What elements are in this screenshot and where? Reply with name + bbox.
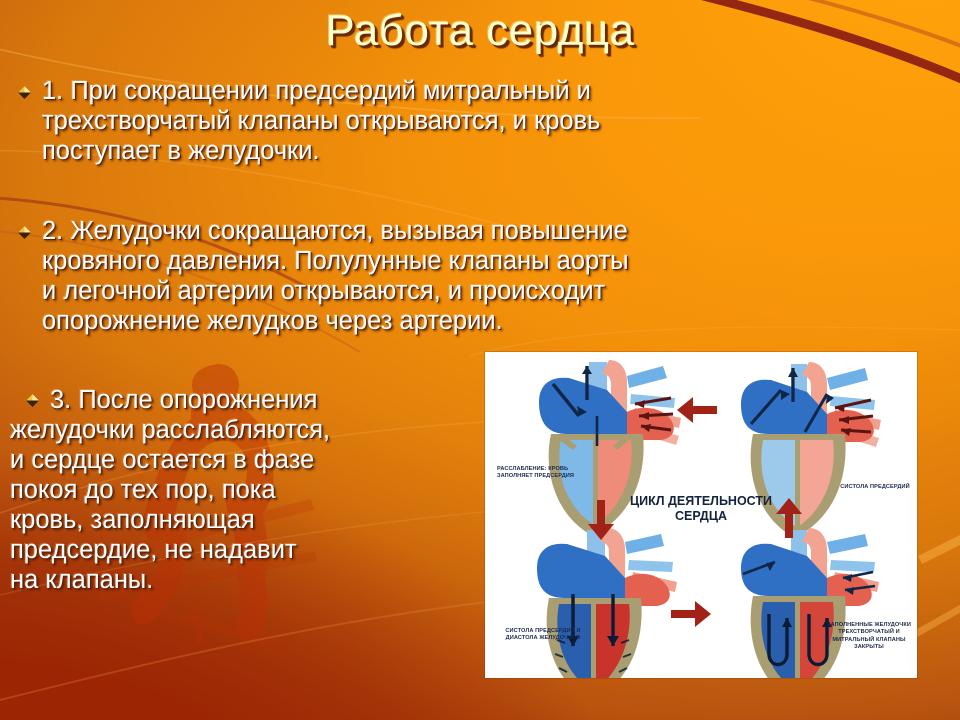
bullet-2-line-3: и легочной артерии открываются, и происх… [14, 276, 914, 306]
cycle-arrow-right-bottom [671, 601, 711, 627]
heart-stage-4-filled-ventricles [741, 528, 879, 678]
diagram-caption-line-2: СЕРДЦА [613, 509, 789, 524]
bullet-2-line-2: кровяного давления. Полулунные клапаны а… [14, 246, 914, 276]
diagram-caption: ЦИКЛ ДЕЯТЕЛЬНОСТИ СЕРДЦА [613, 494, 789, 524]
gold-diamond-bullet-icon [18, 226, 31, 239]
bullet-2-line-1: 2. Желудочки сокращаются, вызывая повыше… [14, 216, 914, 246]
gold-diamond-bullet-icon [26, 394, 39, 407]
cycle-arrow-left-top [677, 397, 717, 423]
bullet-3-line-2: желудочки расслабляются, [10, 415, 480, 445]
bullet-3-line-7: на клапаны. [10, 565, 480, 595]
diagram-label-systole-diastole: СИСТОЛА ПРЕДСЕРДИЙ И ДИАСТОЛА ЖЕЛУДОЧКОВ [501, 628, 585, 643]
bullet-1-line-1: 1. При сокращении предсердий митральный … [14, 76, 914, 106]
gold-diamond-bullet-icon [18, 86, 31, 99]
bullet-2-line-4: опорожнение желудков через артерии. [14, 306, 914, 336]
bullet-1-line-2: трехстворчатый клапаны открываются, и кр… [14, 106, 914, 136]
diagram-caption-line-1: ЦИКЛ ДЕЯТЕЛЬНОСТИ [613, 494, 789, 509]
diagram-label-filled-ventricles: ЗАПОЛНЕННЫЕ ЖЕЛУДОЧКИ ТРЕХСТВОРЧАТЫЙ И М… [823, 622, 915, 652]
diagram-label-relaxation: РАССЛАБЛЕНИЕ: КРОВЬ ЗАПОЛНЯЕТ ПРЕДСЕРДИЯ [497, 466, 577, 481]
slide-canvas: Работа сердца 1. При сокращении предсерд… [0, 0, 960, 720]
bullet-3-line-5: кровь, заполняющая [10, 505, 480, 535]
bullet-3-line-6: предсердие, не надавит [10, 535, 480, 565]
heart-stage-3-ventricular-filling [537, 528, 677, 678]
bullet-3-line-4: покоя до тех пор, пока [10, 475, 480, 505]
diagram-label-atrial-systole: СИСТОЛА ПРЕДСЕРДИЙ [837, 484, 913, 491]
heart-cycle-diagram-image: РАССЛАБЛЕНИЕ: КРОВЬ ЗАПОЛНЯЕТ ПРЕДСЕРДИЯ… [485, 352, 917, 678]
bullet-item-3: 3. После опорожнения желудочки расслабля… [10, 385, 480, 595]
bullet-item-2: 2. Желудочки сокращаются, вызывая повыше… [14, 216, 914, 336]
bullet-1-line-3: поступает в желудочки. [14, 136, 914, 166]
bullet-3-line-1: 3. После опорожнения [10, 385, 480, 415]
bullet-3-line-3: и сердце остается в фазе [10, 445, 480, 475]
bullet-item-1: 1. При сокращении предсердий митральный … [14, 76, 914, 166]
